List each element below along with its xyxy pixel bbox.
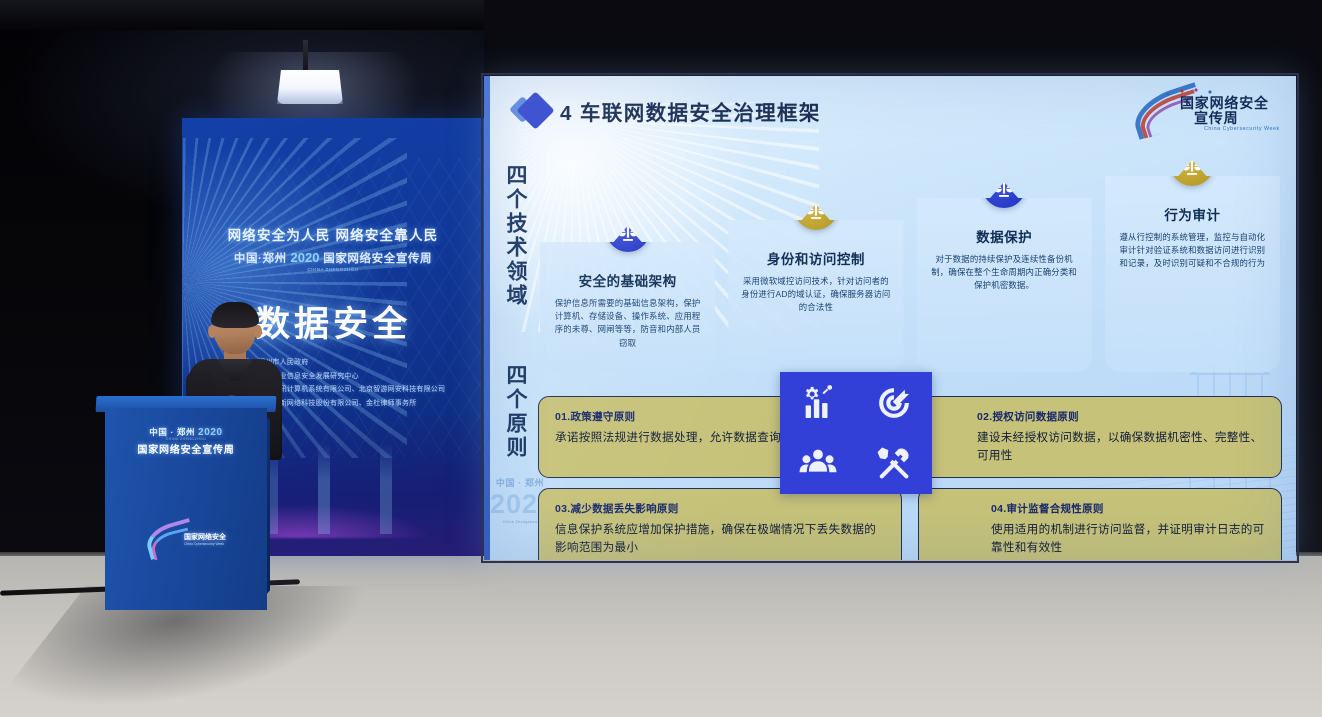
- slide-title: 4 车联网数据安全治理框架: [560, 96, 821, 126]
- tech-card-title: 数据保护: [929, 226, 1080, 246]
- logo-line2: 宣传周: [1194, 111, 1269, 126]
- tech-card[interactable]: 身份和访问控制 采用微软域控访问技术，针对访问者的身份进行AD的域认证，确保服务…: [728, 204, 903, 372]
- wall-sub-event: 国家网络安全宣传周: [323, 253, 432, 265]
- logo-text: 国家网络安全 宣传周: [1180, 96, 1269, 126]
- logo-line1: 国家网络安全: [1180, 95, 1269, 111]
- tools-icon: [873, 445, 915, 483]
- diamond-bullet-icon: [512, 92, 550, 130]
- podium-city: 中国 · 郑州: [149, 427, 195, 437]
- principle-card[interactable]: 03.减少数据丢失影响原则 信息保护系统应增加保护措施，确保在极端情况下丢失数据…: [538, 488, 902, 560]
- tech-card[interactable]: 数据保护 对于数据的持续保护及连续性备份机制，确保在整个生命周期内正确分类和保护…: [917, 182, 1092, 372]
- emblem-en: China Cybersecurity Week: [184, 542, 226, 546]
- center-icon-block: [780, 372, 932, 494]
- podium-event-title: 国家网络安全宣传周: [105, 441, 267, 456]
- tech-cards-row: 安全的基础架构 保护信息所需要的基础信息架构，保护计算机、存储设备、操作系统、应…: [540, 182, 1280, 372]
- speaker-right-ear: [254, 325, 262, 338]
- settings-chart-icon: [797, 384, 839, 422]
- principle-card[interactable]: 04.审计监督合规性原则 使用适用的机制进行访问监督，并证明审计日志的可靠性和有…: [918, 488, 1282, 560]
- podium-emblem: 国家网络安全 China Cybersecurity Week: [146, 518, 226, 558]
- wall-subtitle: 中国·郑州 2020 国家网络安全宣传周 CHINA ZHENGZHOU: [182, 250, 484, 272]
- balance-scale-icon: [606, 208, 650, 252]
- emblem-text: 国家网络安全 China Cybersecurity Week: [184, 532, 226, 546]
- principle-title: 02.授权访问数据原则: [977, 409, 1265, 424]
- balance-scale-icon: [982, 164, 1026, 208]
- tech-card-title: 行为审计: [1117, 204, 1268, 224]
- principle-title: 04.审计监督合规性原则: [991, 501, 1265, 516]
- tech-card[interactable]: 行为审计 遵从行控制的系统管理，监控与自动化审计针对验证系统和数据访问进行识别和…: [1105, 160, 1280, 372]
- emblem-title: 国家网络安全: [184, 534, 226, 541]
- slide-header: 4 车联网数据安全治理框架: [512, 92, 821, 130]
- vertical-label-tech: 四个技术领域: [500, 164, 530, 308]
- vertical-label-principles: 四个原则: [500, 364, 530, 460]
- wall-sub-en: CHINA ZHENGZHOU: [182, 267, 484, 272]
- tech-card-desc: 遵从行控制的系统管理，监控与自动化审计针对验证系统和数据访问进行识别和记录，及时…: [1117, 231, 1268, 271]
- principle-card[interactable]: 02.授权访问数据原则 建设未经授权访问数据，以确保数据机密性、完整性、可用性: [918, 396, 1282, 478]
- wall-sub-city: 中国·郑州: [234, 253, 287, 265]
- tech-card-desc: 采用微软域控访问技术，针对访问者的身份进行AD的域认证，确保服务器访问的合法性: [740, 275, 891, 315]
- principle-text: 建设未经授权访问数据，以确保数据机密性、完整性、可用性: [977, 429, 1265, 465]
- logo-en: China Cybersecurity Week: [1204, 126, 1280, 132]
- principle-text: 使用适用的机制进行访问监督，并证明审计日志的可靠性和有效性: [991, 521, 1265, 557]
- podium: 中国 · 郑州 2020 CHINA ZHENGZHOU 国家网络安全宣传周 国…: [105, 408, 267, 610]
- spotlight-mount: [303, 40, 308, 74]
- target-icon: [873, 384, 915, 422]
- principle-title: 03.减少数据丢失影响原则: [555, 501, 885, 516]
- principle-text: 信息保护系统应增加保护措施，确保在极端情况下丢失数据的影响范围为最小: [555, 521, 885, 557]
- tech-card-title: 安全的基础架构: [552, 270, 703, 290]
- balance-scale-icon: [794, 186, 838, 230]
- presentation-slide: 4 车联网数据安全治理框架 国家网络安全 宣传周 China Cybersecu…: [484, 76, 1296, 560]
- tech-card-title: 身份和访问控制: [740, 248, 891, 268]
- team-icon: [797, 445, 839, 483]
- tech-card-desc: 对于数据的持续保护及连续性备份机制，确保在整个生命周期内正确分类和保护机密数据。: [929, 253, 1080, 293]
- speaker-left-ear: [208, 325, 216, 338]
- wall-sub-year: 2020: [291, 250, 320, 265]
- speaker-hair: [211, 302, 259, 328]
- cybersecurity-week-logo: 国家网络安全 宣传周 China Cybersecurity Week: [1132, 86, 1282, 134]
- conference-stage-photo: 网络安全为人民 网络安全靠人民 中国·郑州 2020 国家网络安全宣传周 CHI…: [0, 0, 1322, 717]
- watermark-city: 中国 · 郑州: [496, 478, 544, 488]
- tech-card-desc: 保护信息所需要的基础信息架构，保护计算机、存储设备、操作系统、应用程序的未尊、网…: [552, 297, 703, 350]
- wall-slogan: 网络安全为人民 网络安全靠人民: [182, 224, 484, 244]
- tech-card[interactable]: 安全的基础架构 保护信息所需要的基础信息架构，保护计算机、存储设备、操作系统、应…: [540, 226, 715, 372]
- spotlight-icon: [277, 70, 343, 104]
- balance-scale-icon: [1170, 142, 1214, 186]
